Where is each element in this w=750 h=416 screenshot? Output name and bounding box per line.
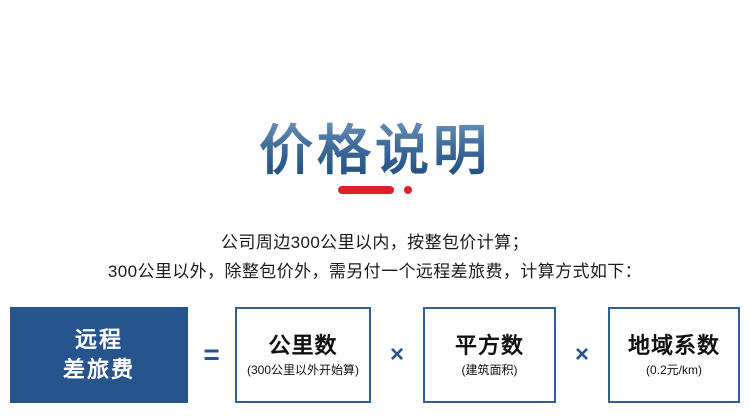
description-line-1: 公司周边300公里以内，按整包价计算；: [0, 228, 750, 257]
formula-row: 远程 差旅费 = 公里数 (300公里以外开始算) × 平方数 (建筑面积) ×…: [10, 307, 740, 403]
term-area-title: 平方数: [455, 332, 524, 360]
description-line-2: 300公里以外，除整包价外，需另付一个远程差旅费，计算方式如下：: [0, 257, 750, 286]
divider-dot: [404, 186, 412, 194]
travel-fee-label-line-1: 远程: [75, 325, 123, 355]
term-region-title: 地域系数: [628, 332, 720, 360]
travel-fee-box: 远程 差旅费: [10, 307, 188, 403]
term-distance-subtitle: (300公里以外开始算): [247, 361, 359, 379]
multiply-operator-2: ×: [556, 343, 608, 367]
term-region-subtitle: (0.2元/km): [646, 361, 702, 379]
multiply-operator-1: ×: [371, 343, 423, 367]
term-distance-title: 公里数: [268, 332, 337, 360]
page-title: 价格说明: [259, 120, 491, 182]
term-box-distance: 公里数 (300公里以外开始算): [235, 307, 371, 403]
divider-bar: [338, 186, 394, 194]
term-box-area: 平方数 (建筑面积): [423, 307, 556, 403]
page-title-container: 价格说明: [0, 84, 750, 218]
term-box-region-coefficient: 地域系数 (0.2元/km): [608, 307, 740, 403]
description-block: 公司周边300公里以内，按整包价计算； 300公里以外，除整包价外，需另付一个远…: [0, 228, 750, 286]
travel-fee-label-line-2: 差旅费: [63, 355, 135, 385]
divider: [0, 184, 750, 196]
term-area-subtitle: (建筑面积): [462, 361, 518, 379]
equals-operator: =: [188, 341, 235, 369]
